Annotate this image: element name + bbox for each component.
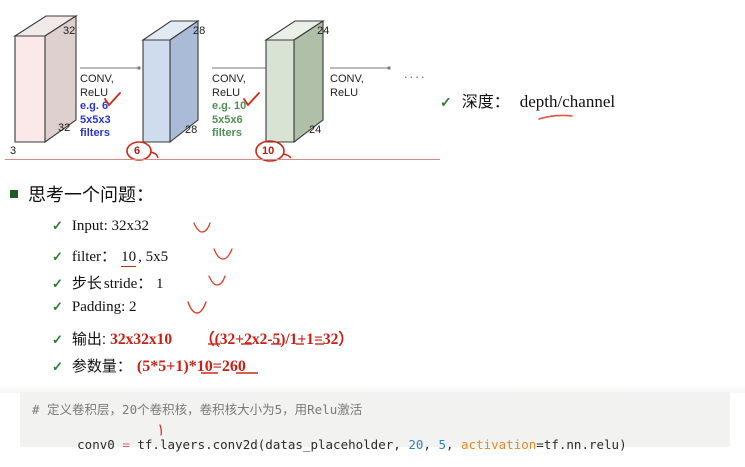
conv1-line1: CONV,: [80, 73, 114, 87]
code-block: # 定义卷积层，20个卷积核，卷积核大小为5，用Relu激活 conv0 = t…: [20, 392, 730, 447]
list-item-params: ✓ 参数量： (5*5+1)*10=260: [52, 355, 246, 376]
list-item-label: Input: 32x32: [72, 218, 149, 235]
conv2-line4: 5x5x6: [212, 114, 246, 128]
red-check-mark-filter: [212, 247, 234, 262]
input-depth-dim: 3: [10, 145, 16, 157]
code-statement-line: conv0 = tf.layers.conv2d(datas_placehold…: [32, 422, 627, 467]
depth-label-en: depth/channel: [520, 92, 615, 112]
stride-label-cjk: 步长: [72, 272, 102, 293]
green-check-icon: ✓: [52, 218, 63, 234]
conv2-depth-dim: 10: [262, 145, 274, 157]
conv2-bottom-dim: 24: [309, 124, 321, 136]
conv1-volume: [140, 18, 212, 154]
list-item-filter: ✓ filter： 10 , 5x5: [52, 245, 168, 267]
code-token: 5: [438, 437, 446, 452]
list-item-stride: ✓ 步长 stride： 1: [52, 272, 164, 293]
output-formula: （(32+2x2-5)/1+1=32）: [199, 327, 354, 349]
page-title: 思考一个问题：: [28, 181, 154, 207]
params-value: (5*5+1)*10=260: [137, 358, 246, 376]
input-volume: [12, 12, 90, 152]
conv1-top-dim: 28: [193, 25, 205, 37]
conv-block-2-text: CONV, ReLU e.g. 10 5x5x6 filters: [212, 73, 246, 141]
input-top-dim: 32: [63, 25, 75, 37]
stride-label-en: stride： 1: [104, 272, 164, 293]
depth-label-cjk: 深度：: [462, 88, 510, 112]
section-heading: 思考一个问题：: [10, 181, 154, 207]
conv2-top-dim: 24: [317, 25, 329, 37]
cnn-volume-diagram: 32 32 3 CONV, ReLU e.g. 6 5x5x3 filters: [0, 0, 445, 172]
green-check-icon: ✓: [52, 276, 63, 292]
red-check-mark-stride: [207, 274, 227, 288]
green-check-icon: ✓: [52, 332, 63, 348]
list-item-input: ✓ Input: 32x32: [52, 218, 149, 235]
conv1-bottom-dim: 28: [185, 124, 197, 136]
code-token: =: [122, 437, 137, 452]
output-value: 32x32x10: [110, 331, 172, 349]
code-comment-line: # 定义卷积层，20个卷积核，卷积核大小为5，用Relu激活: [32, 399, 362, 418]
conv-block-1-text: CONV, ReLU e.g. 6 5x5x3 filters: [80, 73, 114, 141]
depth-sidenote: ✓ 深度： depth/channel: [440, 88, 615, 112]
list-item-label-post: , 5x5: [138, 249, 168, 266]
conv1-line4: 5x5x3: [80, 114, 114, 128]
conv1-line3: e.g. 6: [80, 100, 114, 114]
filter-count-underlined: 10: [121, 249, 136, 267]
code-token: 20: [408, 437, 423, 452]
red-underline-depth: [537, 113, 577, 123]
code-token: activation: [461, 437, 536, 452]
conv-block-3-text: CONV, ReLU: [330, 73, 364, 100]
square-bullet-icon: [10, 190, 18, 198]
ellipsis-label: ....: [404, 66, 426, 81]
green-check-icon: ✓: [52, 249, 63, 265]
list-item-output: ✓ 输出: 32x32x10 （(32+2x2-5)/1+1=32）: [52, 327, 354, 349]
red-check-mark-input: [192, 221, 212, 235]
conv2-line3: e.g. 10: [212, 100, 246, 114]
code-token: =tf.nn.relu): [536, 437, 626, 452]
input-bottom-dim: 32: [58, 122, 70, 134]
conv3-line2: ReLU: [330, 87, 364, 101]
red-check-mark-padding: [186, 300, 208, 316]
arrow-icon: [80, 65, 142, 71]
conv2-line2: ReLU: [212, 87, 246, 101]
slide-root: 32 32 3 CONV, ReLU e.g. 6 5x5x3 filters: [0, 0, 745, 447]
output-label-cjk: 输出:: [72, 328, 106, 349]
list-item-label-pre: filter：: [72, 245, 116, 266]
green-check-icon: ✓: [52, 359, 63, 375]
conv1-depth-dim: 6: [134, 145, 140, 157]
conv2-line5: filters: [212, 127, 246, 141]
conv3-line1: CONV,: [330, 73, 364, 87]
green-check-icon: ✓: [440, 94, 452, 111]
params-label-cjk: 参数量：: [72, 355, 132, 376]
arrow-icon: [330, 65, 392, 71]
code-token: ,: [446, 437, 461, 452]
list-item-padding: ✓ Padding: 2: [52, 299, 137, 316]
red-underline-divider: [5, 159, 440, 160]
green-check-icon: ✓: [52, 299, 63, 315]
list-item-label: Padding: 2: [72, 299, 137, 316]
code-token: tf.layers.conv2d(datas_placeholder,: [137, 437, 408, 452]
conv2-volume: [263, 18, 339, 154]
conv1-line2: ReLU: [80, 87, 114, 101]
code-token: conv0: [77, 437, 122, 452]
conv2-line1: CONV,: [212, 73, 246, 87]
conv1-line5: filters: [80, 127, 114, 141]
code-token: ,: [423, 437, 438, 452]
